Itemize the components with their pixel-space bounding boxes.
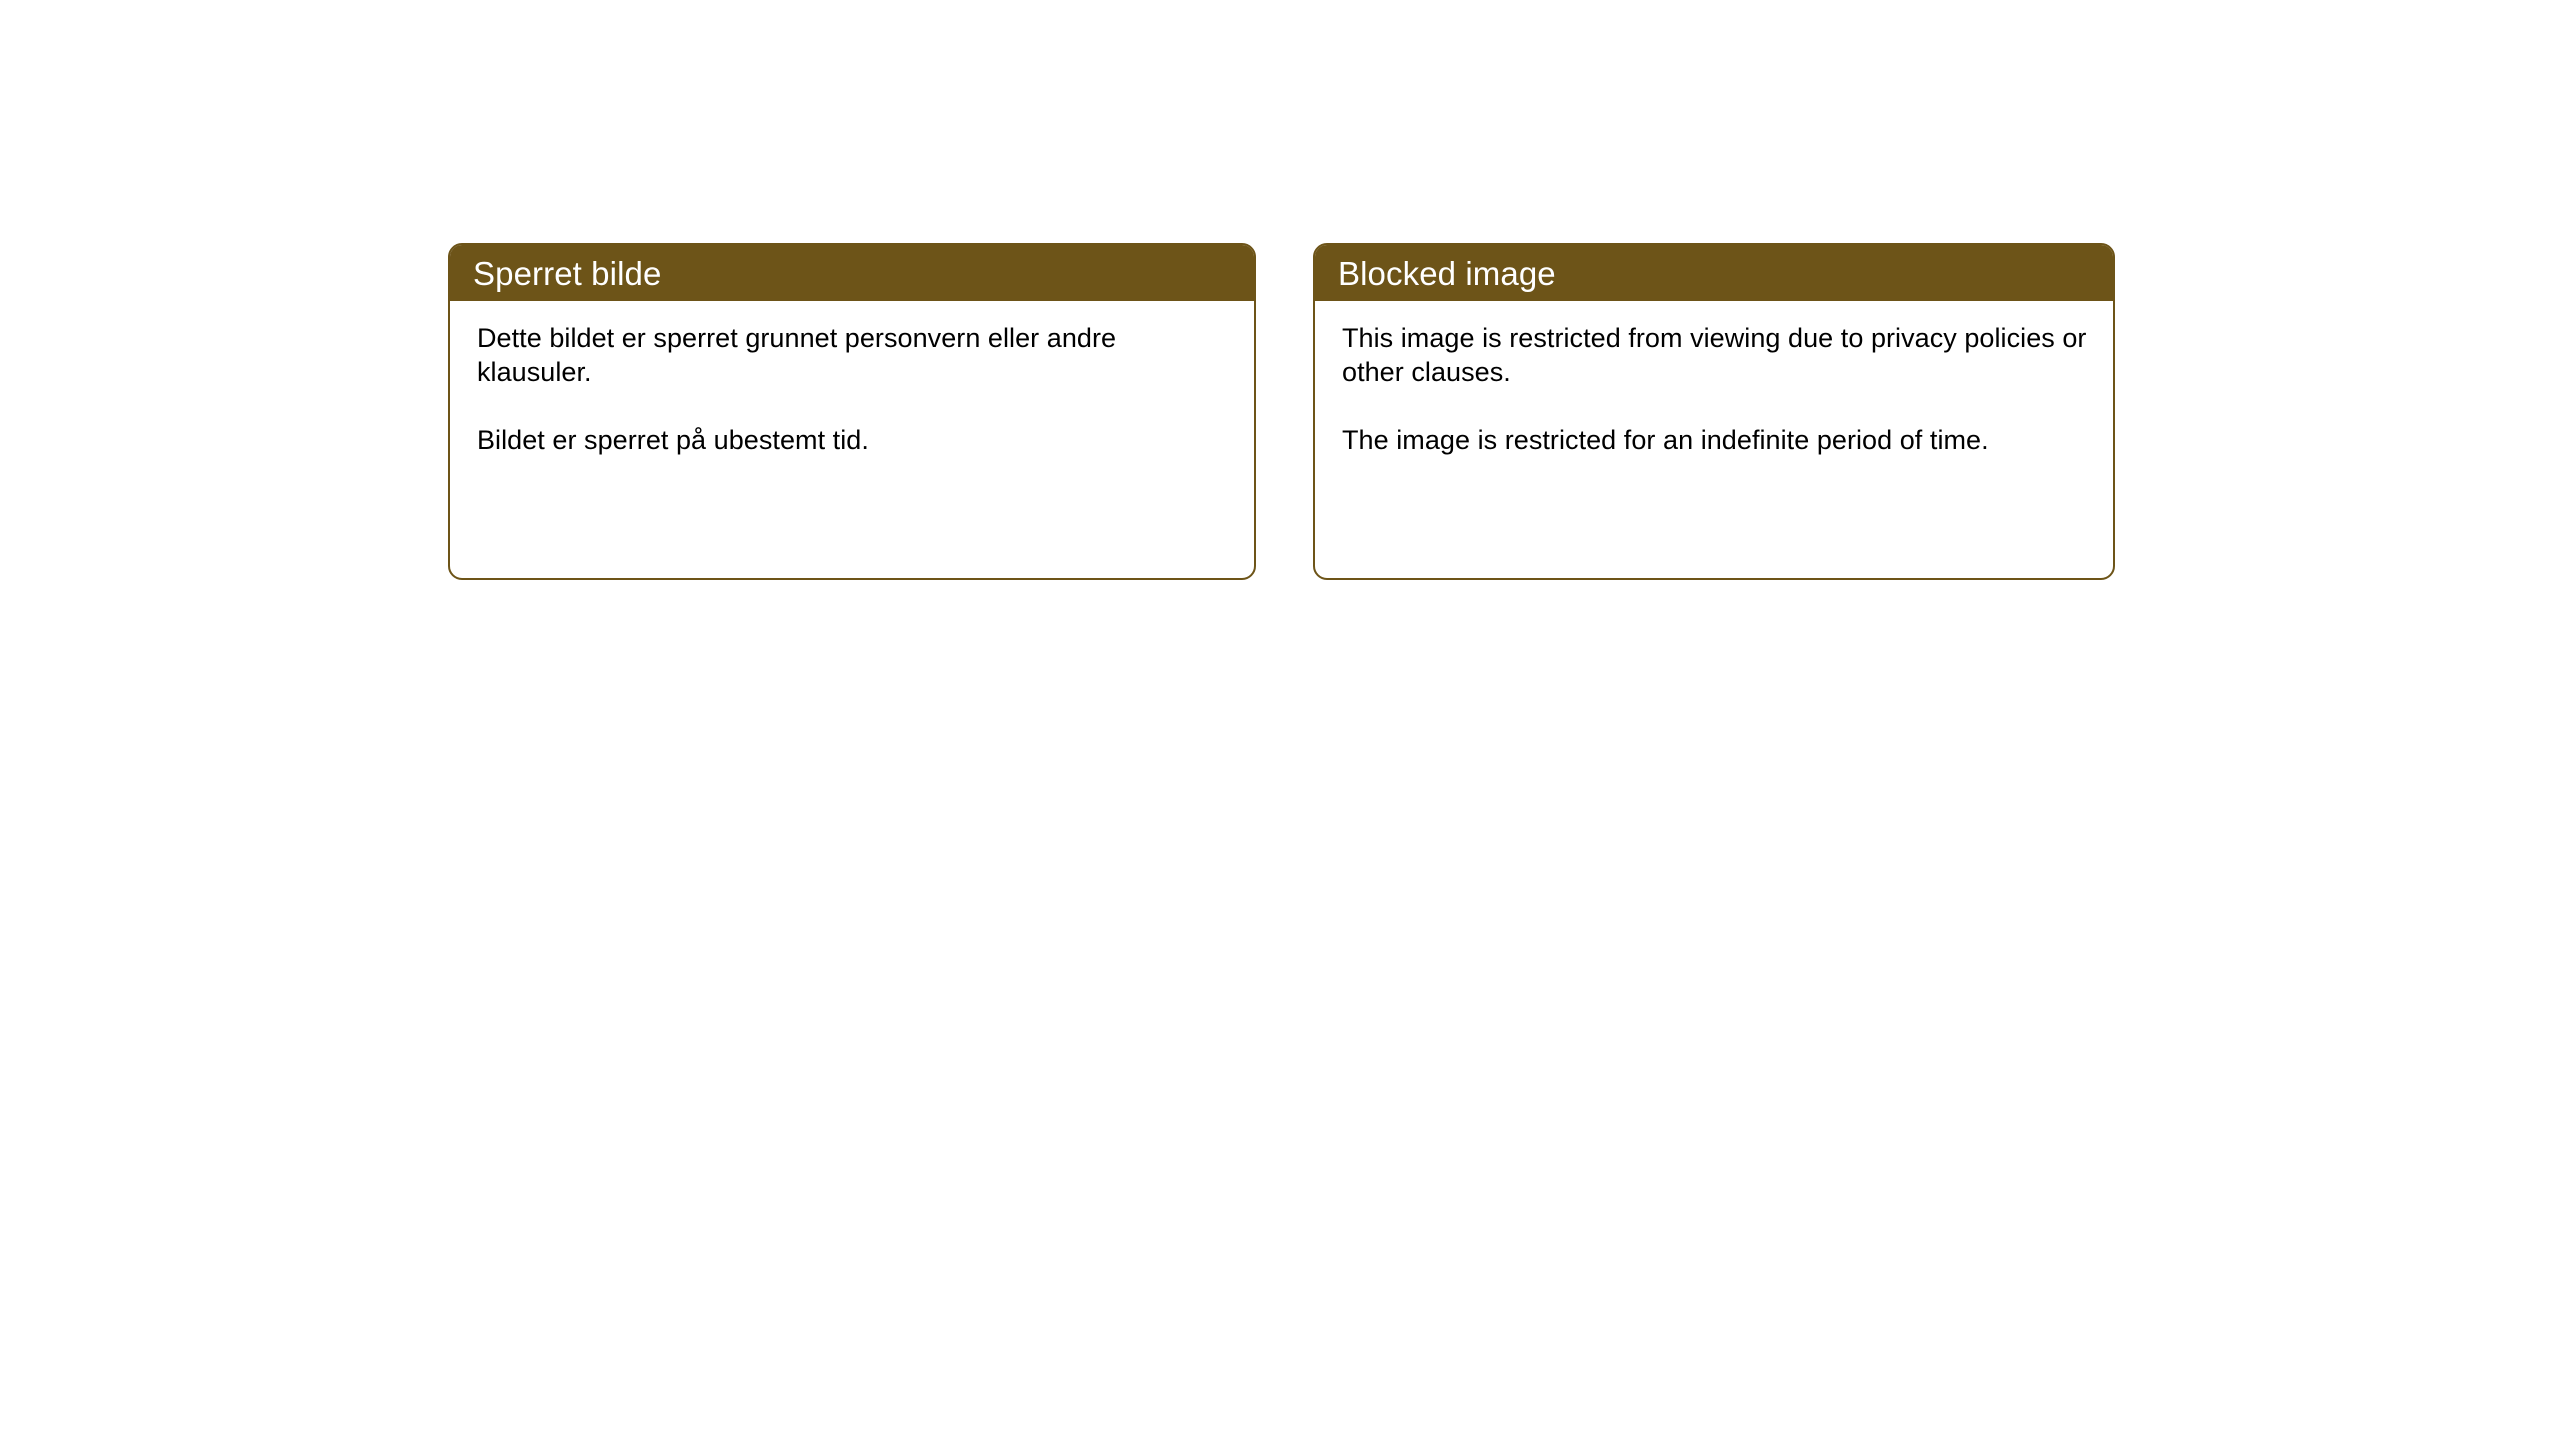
card-paragraph-reason-english: This image is restricted from viewing du… <box>1342 321 2087 389</box>
card-title-norwegian: Sperret bilde <box>473 257 661 290</box>
card-paragraph-duration-english: The image is restricted for an indefinit… <box>1342 423 2087 457</box>
card-header-english: Blocked image <box>1313 243 2115 301</box>
card-header-norwegian: Sperret bilde <box>448 243 1256 301</box>
card-body-norwegian: Dette bildet er sperret grunnet personve… <box>450 301 1254 457</box>
blocked-image-card-norwegian: Sperret bilde Dette bildet er sperret gr… <box>448 243 1256 580</box>
card-paragraph-reason-norwegian: Dette bildet er sperret grunnet personve… <box>477 321 1228 389</box>
card-body-english: This image is restricted from viewing du… <box>1315 301 2113 457</box>
card-paragraph-duration-norwegian: Bildet er sperret på ubestemt tid. <box>477 423 1228 457</box>
blocked-image-card-english: Blocked image This image is restricted f… <box>1313 243 2115 580</box>
notice-stage: Sperret bilde Dette bildet er sperret gr… <box>0 0 2560 1440</box>
card-title-english: Blocked image <box>1338 257 1556 290</box>
